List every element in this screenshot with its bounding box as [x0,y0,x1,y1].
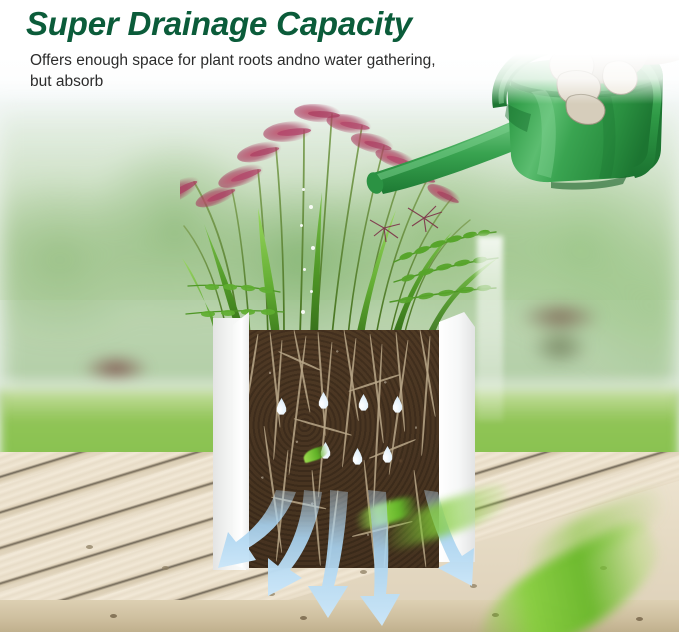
page-subtitle: Offers enough space for plant roots andn… [30,50,450,93]
gazebo-icon [500,295,620,375]
water-sparkle [311,246,315,250]
water-sparkle [309,205,313,209]
deck-front-screw [636,617,643,621]
product-feature-image: Super Drainage Capacity Offers enough sp… [0,0,679,632]
water-sparkle [303,268,306,271]
drainage-arrow [218,490,296,568]
deck-screw [162,566,169,570]
water-stream [477,236,503,421]
page-title: Super Drainage Capacity [26,6,506,43]
drainage-arrow [360,490,400,626]
water-sparkle [310,290,313,293]
deck-front-screw [110,614,117,618]
header-text-block: Super Drainage Capacity Offers enough sp… [26,6,506,93]
deck-screw [86,545,93,549]
water-sparkle [300,224,303,227]
water-sparkle [302,188,305,191]
